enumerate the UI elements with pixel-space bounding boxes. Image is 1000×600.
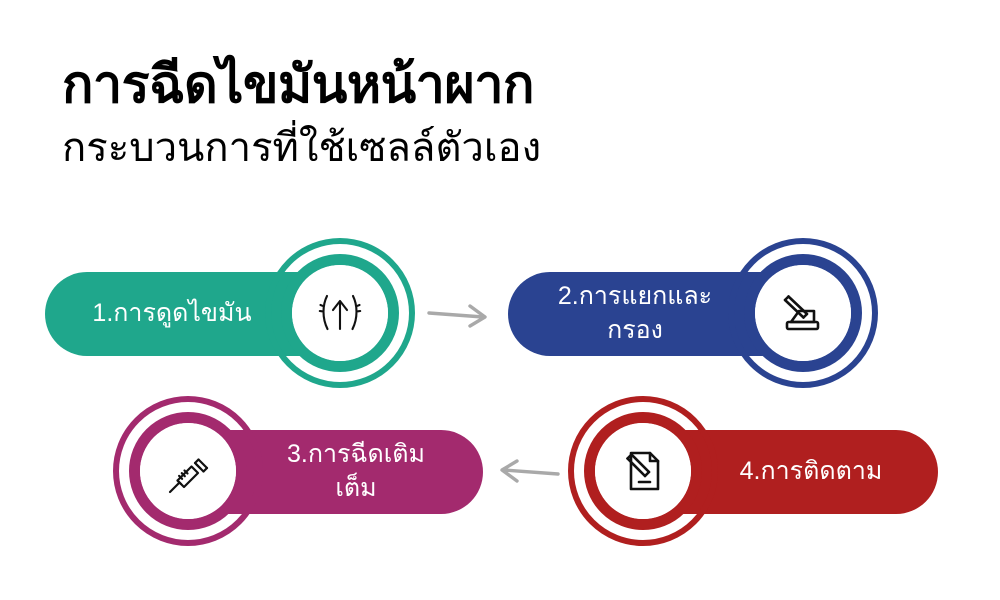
arrow-step4-to-step3 [490, 455, 562, 487]
step-2-badge [728, 238, 878, 388]
step-4-badge [568, 396, 718, 546]
arrow-step1-to-step2 [425, 300, 497, 332]
step-1-badge [265, 238, 415, 388]
torso-liposuction-icon [312, 286, 368, 340]
document-pen-icon [617, 444, 669, 498]
centrifuge-stamp-icon [776, 287, 830, 339]
step-1-icon-disc [292, 265, 388, 361]
infographic-canvas: การฉีดไขมันหน้าผาก กระบวนการที่ใช้เซลล์ต… [0, 0, 1000, 600]
step-3-label: 3.การฉีดเติมเต็ม [269, 438, 443, 506]
step-1[interactable]: 1.การดูดไขมัน [45, 238, 415, 388]
step-4[interactable]: 4.การติดตาม [568, 396, 938, 546]
step-3[interactable]: 3.การฉีดเติมเต็ม [113, 396, 483, 546]
step-3-icon-disc [140, 423, 236, 519]
step-4-icon-disc [595, 423, 691, 519]
step-1-label: 1.การดูดไขมัน [85, 297, 259, 331]
page-title: การฉีดไขมันหน้าผาก [62, 56, 942, 116]
step-3-badge [113, 396, 263, 546]
step-4-label: 4.การติดตาม [724, 455, 898, 489]
step-2-icon-disc [755, 265, 851, 361]
page-subtitle: กระบวนการที่ใช้เซลล์ตัวเอง [62, 124, 942, 172]
syringe-icon [160, 444, 216, 498]
step-2-label: 2.การแยกและกรอง [548, 280, 722, 348]
header: การฉีดไขมันหน้าผาก กระบวนการที่ใช้เซลล์ต… [62, 56, 942, 172]
step-2[interactable]: 2.การแยกและกรอง [508, 238, 878, 388]
